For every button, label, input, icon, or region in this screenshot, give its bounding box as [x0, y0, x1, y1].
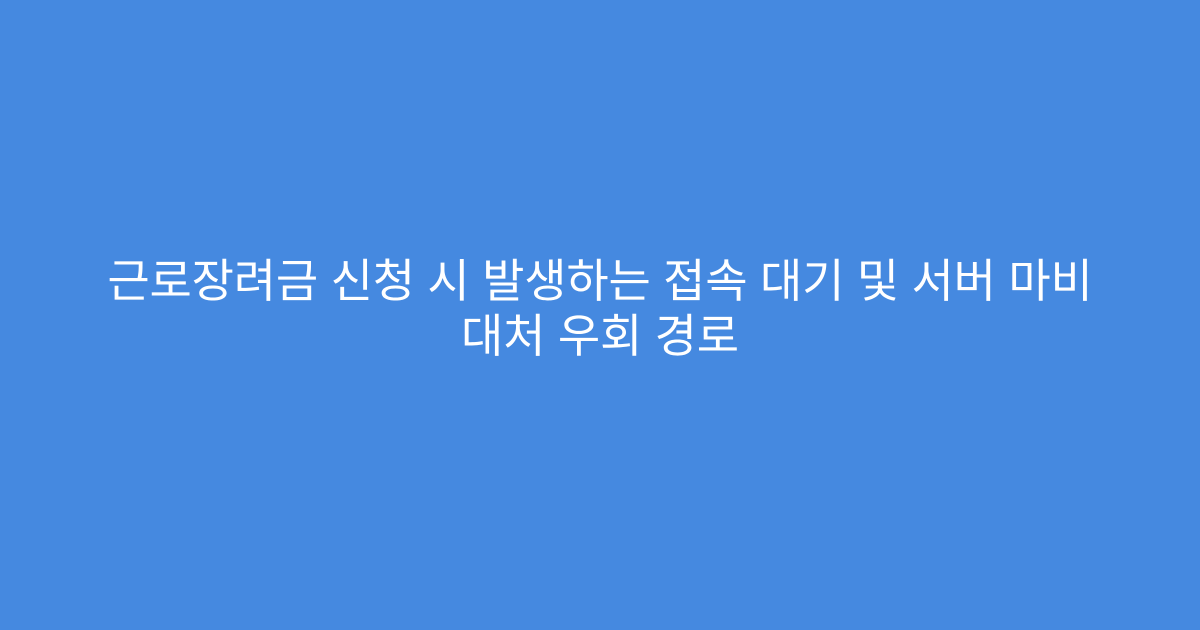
card-content: 근로장려금 신청 시 발생하는 접속 대기 및 서버 마비 대처 우회 경로	[88, 254, 1112, 364]
card-title: 근로장려금 신청 시 발생하는 접속 대기 및 서버 마비 대처 우회 경로	[88, 254, 1112, 364]
social-share-card: 근로장려금 신청 시 발생하는 접속 대기 및 서버 마비 대처 우회 경로	[0, 0, 1200, 630]
